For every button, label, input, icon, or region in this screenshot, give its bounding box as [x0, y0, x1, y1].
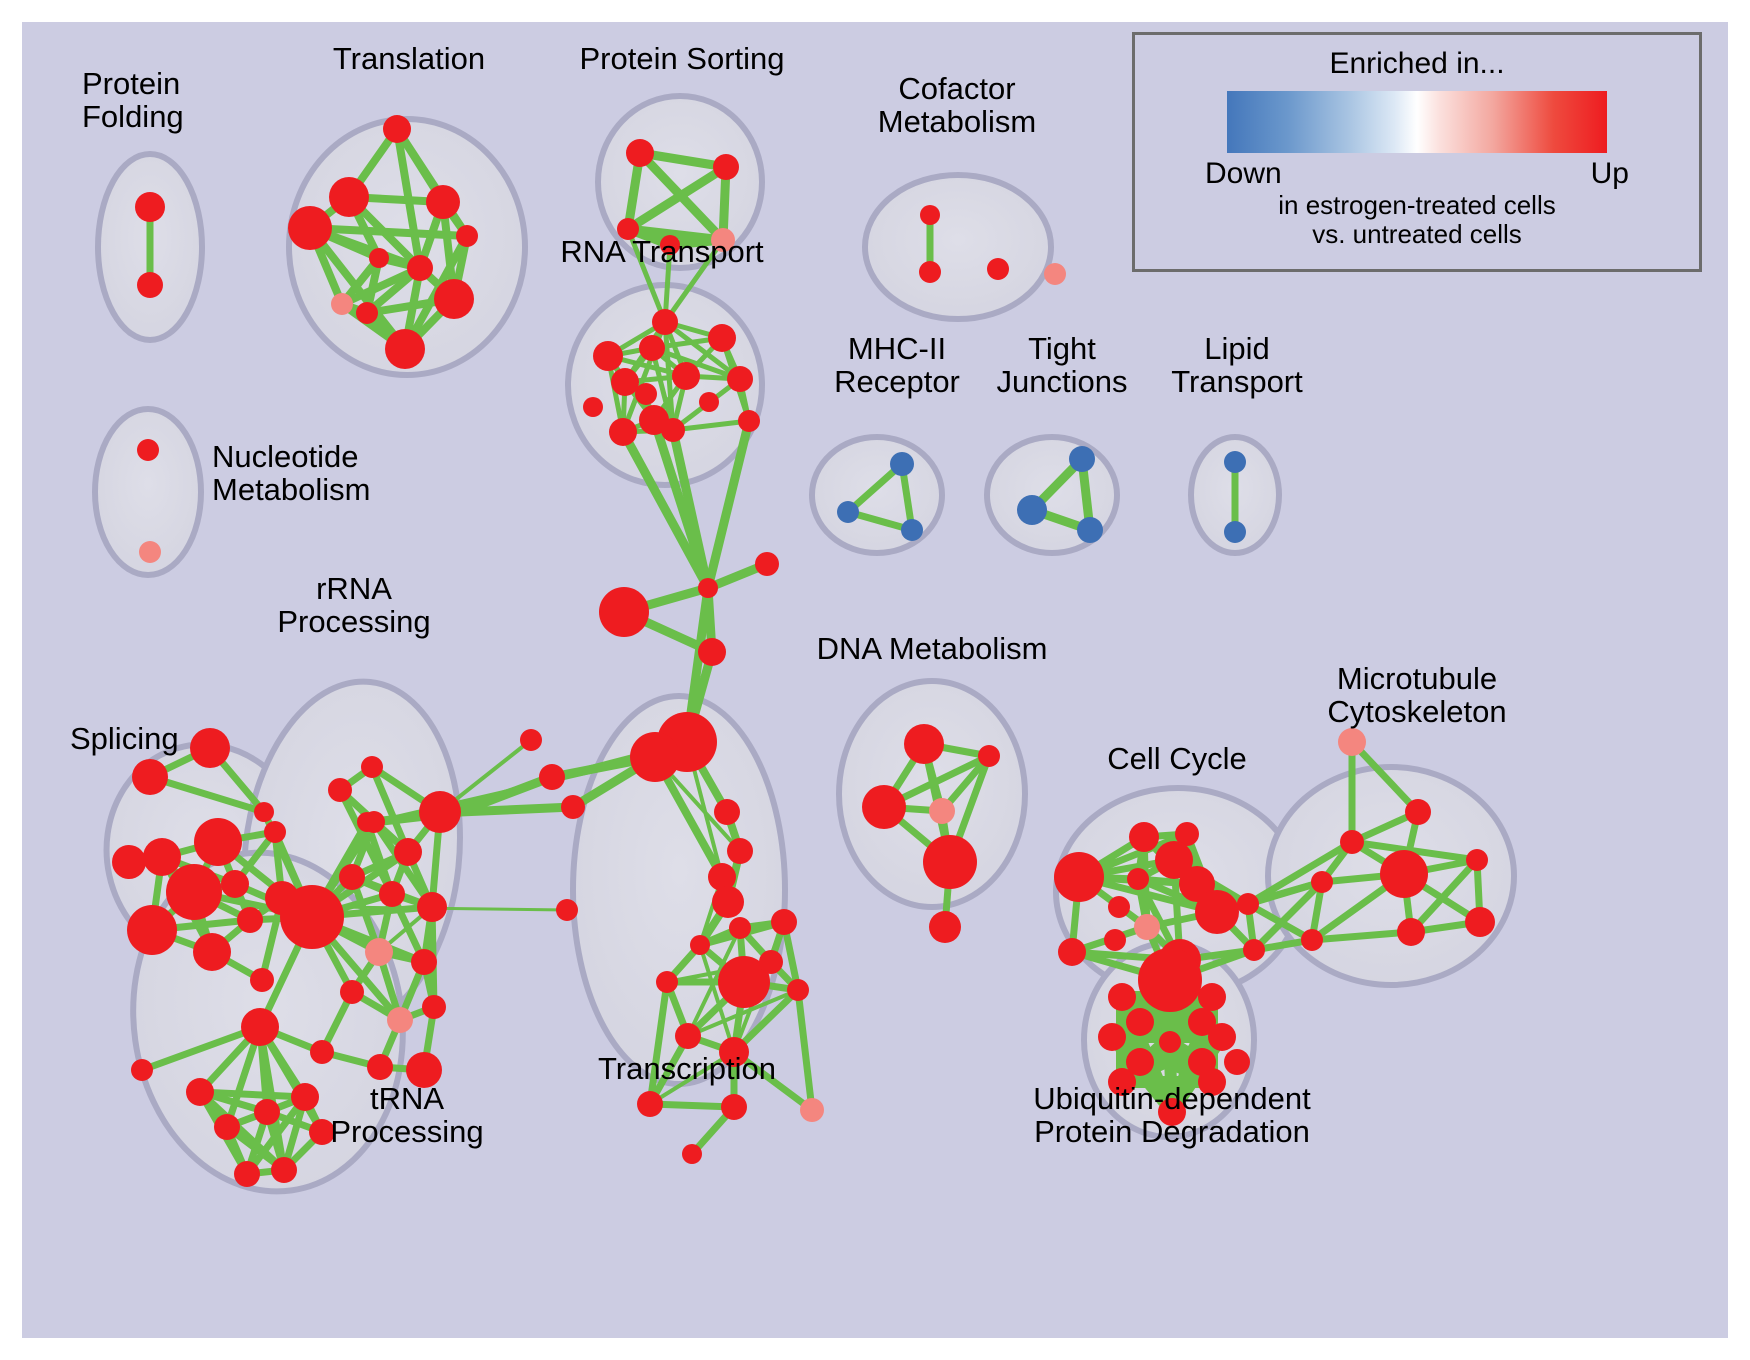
node	[652, 309, 678, 335]
node	[1243, 939, 1265, 961]
legend-title: Enriched in...	[1165, 47, 1669, 81]
node	[1188, 1048, 1216, 1076]
cluster-label-lipid-transport: Lipid Transport	[1142, 332, 1332, 399]
node	[1224, 451, 1246, 473]
node	[1127, 868, 1149, 890]
node	[713, 154, 739, 180]
node	[738, 410, 760, 432]
cluster-label-microtubule-cytoskeleton: Microtubule Cytoskeleton	[1282, 662, 1552, 729]
legend-caption-line1: in estrogen-treated cells	[1165, 191, 1669, 220]
node	[862, 785, 906, 829]
node	[264, 821, 286, 843]
node	[727, 838, 753, 864]
cluster-label-splicing: Splicing	[70, 722, 179, 755]
node	[1159, 1031, 1181, 1053]
legend-high-label: Up	[1591, 157, 1629, 191]
node	[139, 541, 161, 563]
node	[771, 909, 797, 935]
node	[254, 802, 274, 822]
node	[186, 1078, 214, 1106]
node	[1054, 852, 1104, 902]
node	[254, 1099, 280, 1125]
hull-mhc	[812, 437, 942, 553]
node	[920, 205, 940, 225]
node	[698, 638, 726, 666]
node	[1069, 446, 1095, 472]
node	[593, 341, 623, 371]
node	[426, 185, 460, 219]
node	[904, 724, 944, 764]
node	[626, 139, 654, 167]
cluster-label-translation: Translation	[294, 42, 524, 75]
node	[1311, 871, 1333, 893]
node	[221, 870, 249, 898]
node	[583, 397, 603, 417]
node	[387, 1007, 413, 1033]
node	[919, 261, 941, 283]
node	[599, 587, 649, 637]
node	[699, 392, 719, 412]
node	[1405, 799, 1431, 825]
node	[661, 418, 685, 442]
node	[339, 864, 365, 890]
node	[978, 745, 1000, 767]
node	[234, 1161, 260, 1187]
node	[1126, 1048, 1154, 1076]
node	[1397, 918, 1425, 946]
cluster-label-protein-folding: Protein Folding	[82, 67, 184, 134]
node	[137, 272, 163, 298]
cluster-label-trna-processing: tRNA Processing	[292, 1082, 522, 1149]
node	[1301, 929, 1323, 951]
node	[787, 979, 809, 1001]
node	[755, 552, 779, 576]
node	[237, 907, 263, 933]
node	[385, 329, 425, 369]
node	[1224, 521, 1246, 543]
node	[890, 452, 914, 476]
node	[1077, 517, 1103, 543]
cluster-label-transcription: Transcription	[562, 1052, 812, 1085]
node	[411, 949, 437, 975]
node	[698, 578, 718, 598]
node	[1108, 983, 1136, 1011]
node	[419, 791, 461, 833]
node	[561, 795, 585, 819]
node	[1017, 495, 1047, 525]
cluster-label-dna-metabolism: DNA Metabolism	[792, 632, 1072, 665]
cluster-label-cell-cycle: Cell Cycle	[1072, 742, 1282, 775]
node	[394, 838, 422, 866]
node	[1098, 1023, 1126, 1051]
node	[539, 764, 565, 790]
node	[637, 1091, 663, 1117]
node	[241, 1008, 279, 1046]
node	[639, 335, 665, 361]
node	[379, 881, 405, 907]
node	[328, 778, 352, 802]
node	[127, 905, 177, 955]
node	[365, 938, 393, 966]
node	[1104, 929, 1126, 951]
node	[1237, 893, 1259, 915]
node	[194, 818, 242, 866]
node	[1108, 896, 1130, 918]
node	[166, 864, 222, 920]
node	[1380, 850, 1428, 898]
node	[131, 1059, 153, 1081]
node	[635, 383, 657, 405]
node	[214, 1114, 240, 1140]
node	[675, 1023, 701, 1049]
node	[929, 798, 955, 824]
node	[1466, 849, 1488, 871]
node	[271, 1157, 297, 1183]
node	[1134, 914, 1160, 940]
cluster-label-tight-junctions: Tight Junctions	[967, 332, 1157, 399]
node	[1126, 1008, 1154, 1036]
node	[190, 728, 230, 768]
node	[609, 418, 637, 446]
node	[923, 835, 977, 889]
network-plot-area: Protein Folding Translation Protein Sort…	[22, 22, 1728, 1338]
node	[1044, 263, 1066, 285]
node	[759, 950, 783, 974]
cluster-label-nucleotide-metabolism: Nucleotide Metabolism	[212, 440, 371, 507]
node	[357, 812, 377, 832]
node	[630, 732, 680, 782]
cluster-label-rrna-processing: rRNA Processing	[244, 572, 464, 639]
node	[137, 439, 159, 461]
node	[1198, 983, 1226, 1011]
legend-low-label: Down	[1205, 157, 1282, 191]
node	[1224, 1049, 1250, 1075]
node	[690, 935, 710, 955]
node	[929, 911, 961, 943]
node	[721, 1094, 747, 1120]
node	[1153, 958, 1181, 986]
cluster-label-cofactor-metabolism: Cofactor Metabolism	[812, 72, 1102, 139]
node	[901, 519, 923, 541]
node	[310, 1040, 334, 1064]
node	[340, 980, 364, 1004]
node	[361, 756, 383, 778]
node	[1338, 728, 1366, 756]
node	[456, 225, 478, 247]
node	[729, 917, 751, 939]
node	[417, 892, 447, 922]
node	[329, 177, 369, 217]
node	[682, 1144, 702, 1164]
node	[422, 995, 446, 1019]
legend-color-bar	[1227, 91, 1607, 153]
cluster-label-ubiquitin-degradation: Ubiquitin-dependent Protein Degradation	[952, 1082, 1392, 1149]
hull-cofactor	[865, 175, 1051, 319]
node	[356, 302, 378, 324]
node	[1188, 1008, 1216, 1036]
node	[250, 968, 274, 992]
node	[837, 501, 859, 523]
node	[143, 838, 181, 876]
node	[1129, 822, 1159, 852]
node	[1465, 907, 1495, 937]
node	[407, 255, 433, 281]
node	[1340, 830, 1364, 854]
node	[520, 729, 542, 751]
node	[714, 799, 740, 825]
node	[800, 1098, 824, 1122]
node	[987, 258, 1009, 280]
figure-canvas: Protein Folding Translation Protein Sort…	[0, 0, 1750, 1360]
node	[112, 845, 146, 879]
node	[556, 899, 578, 921]
node	[383, 115, 411, 143]
node	[367, 1054, 393, 1080]
node	[611, 368, 639, 396]
node	[708, 324, 736, 352]
node	[434, 279, 474, 319]
node	[280, 885, 344, 949]
legend-caption-line2: vs. untreated cells	[1165, 220, 1669, 249]
node	[672, 362, 700, 390]
node	[135, 192, 165, 222]
node	[331, 293, 353, 315]
node	[727, 366, 753, 392]
node	[1058, 938, 1086, 966]
node	[193, 933, 231, 971]
node	[288, 206, 332, 250]
node	[1195, 890, 1239, 934]
cluster-label-protein-sorting: Protein Sorting	[522, 42, 842, 75]
node	[656, 971, 678, 993]
cluster-label-rna-transport: RNA Transport	[502, 235, 822, 268]
node	[712, 886, 744, 918]
legend-panel: Enriched in... Down Up in estrogen-treat…	[1132, 32, 1702, 272]
node	[369, 248, 389, 268]
node	[132, 759, 168, 795]
